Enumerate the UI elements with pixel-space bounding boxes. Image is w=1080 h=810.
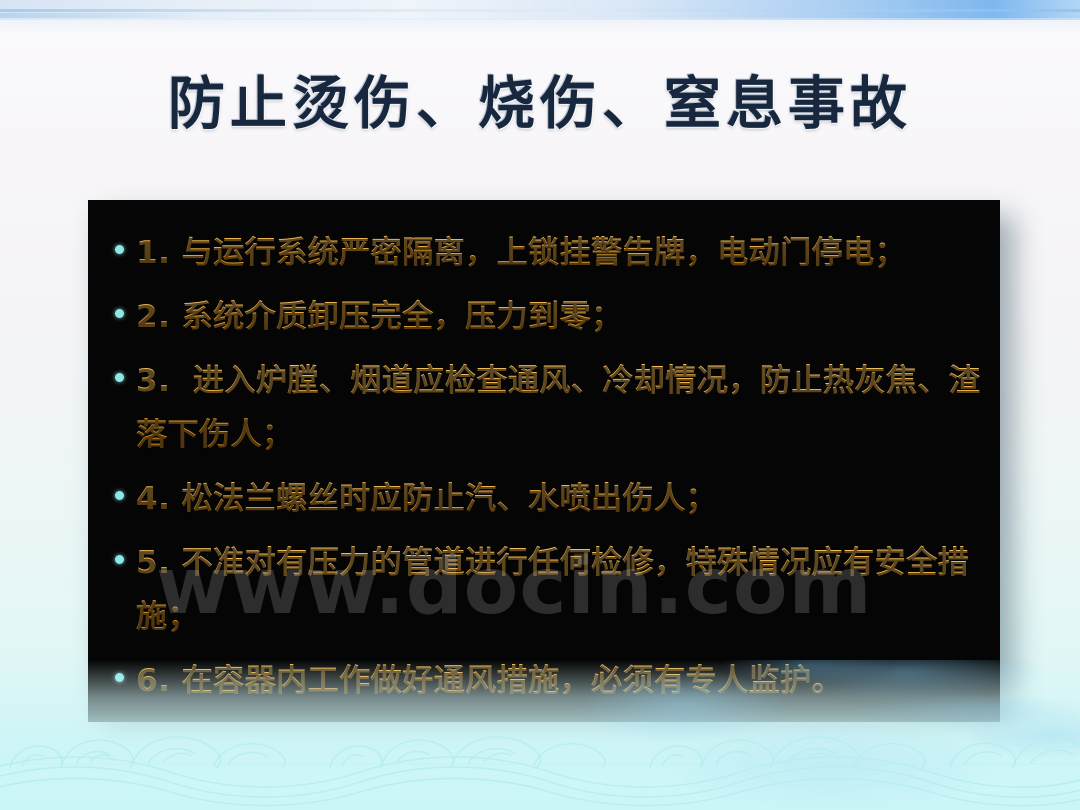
slide-canvas: 防止烫伤、烧伤、窒息事故 1. 与运行系统严密隔离，上锁挂警告牌，电动门停电； … — [0, 0, 1080, 810]
wave-pattern-icon — [0, 700, 1080, 810]
bullet-dot-icon — [102, 354, 136, 382]
list-item: 3. 进入炉膛、烟道应检查通风、冷却情况，防止热灰焦、渣落下伤人； — [102, 354, 984, 462]
bottom-wave-band — [0, 660, 1080, 810]
bullet-dot-icon — [102, 226, 136, 254]
list-item: 2. 系统介质卸压完全，压力到零； — [102, 290, 984, 344]
bullet-dot-icon — [102, 472, 136, 500]
list-item-text: 4. 松法兰螺丝时应防止汽、水喷出伤人； — [136, 472, 984, 526]
top-band-fade — [0, 18, 1080, 34]
content-panel: 1. 与运行系统严密隔离，上锁挂警告牌，电动门停电； 2. 系统介质卸压完全，压… — [88, 200, 1000, 722]
top-gradient-band — [0, 0, 1080, 20]
list-item: 5. 不准对有压力的管道进行任何检修，特殊情况应有安全措施； — [102, 536, 984, 644]
list-item-text: 1. 与运行系统严密隔离，上锁挂警告牌，电动门停电； — [136, 226, 984, 280]
list-item-text: 2. 系统介质卸压完全，压力到零； — [136, 290, 984, 344]
list-item-text: 5. 不准对有压力的管道进行任何检修，特殊情况应有安全措施； — [136, 536, 984, 644]
bullet-dot-icon — [102, 536, 136, 564]
list-item-text: 3. 进入炉膛、烟道应检查通风、冷却情况，防止热灰焦、渣落下伤人； — [136, 354, 984, 462]
page-title: 防止烫伤、烧伤、窒息事故 — [0, 58, 1080, 140]
list-item: 1. 与运行系统严密隔离，上锁挂警告牌，电动门停电； — [102, 226, 984, 280]
list-item: 4. 松法兰螺丝时应防止汽、水喷出伤人； — [102, 472, 984, 526]
bullet-list: 1. 与运行系统严密隔离，上锁挂警告牌，电动门停电； 2. 系统介质卸压完全，压… — [88, 200, 1000, 722]
bullet-dot-icon — [102, 290, 136, 318]
